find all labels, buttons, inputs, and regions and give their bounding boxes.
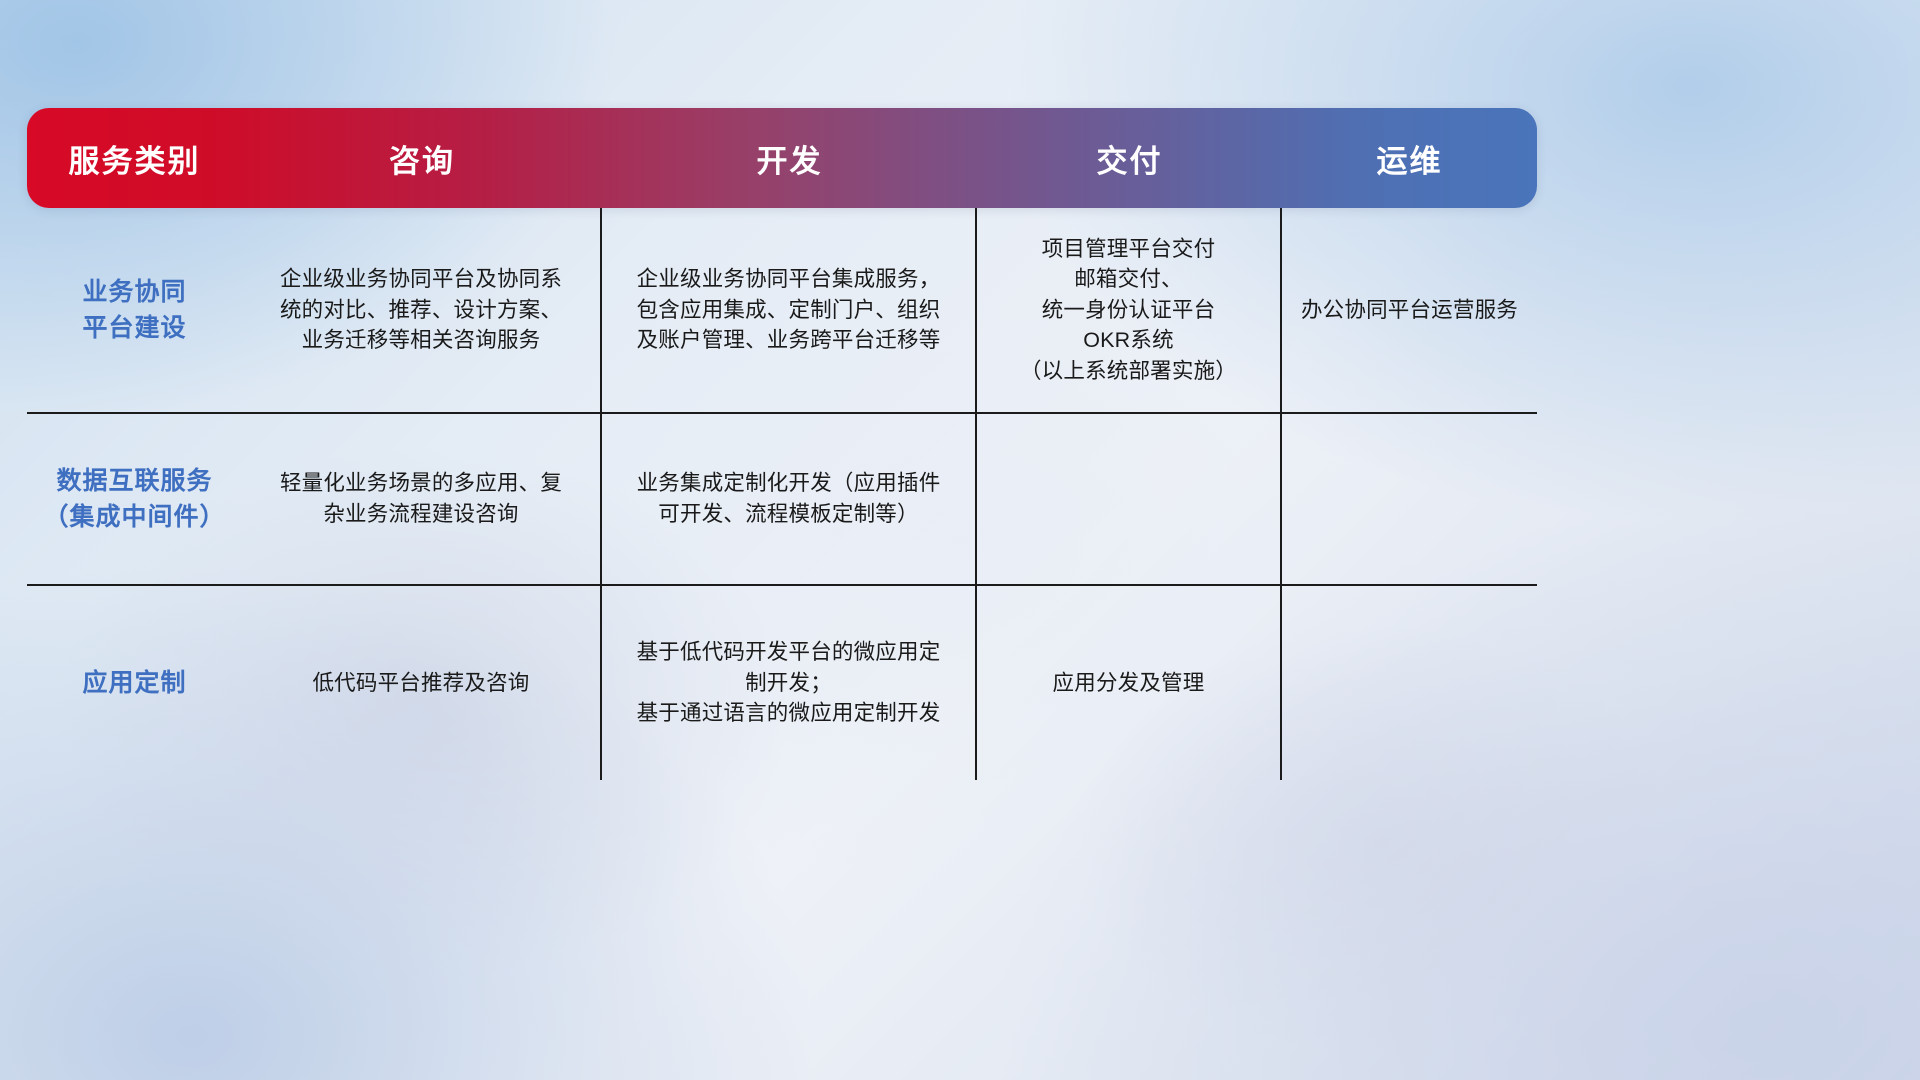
table-row: 应用定制 低代码平台推荐及咨询 基于低代码开发平台的微应用定 制开发； 基于通过…: [27, 586, 1537, 780]
table-body: 业务协同 平台建设 企业级业务协同平台及协同系 统的对比、推荐、设计方案、 业务…: [27, 208, 1537, 780]
cell-row3-development: 基于低代码开发平台的微应用定 制开发； 基于通过语言的微应用定制开发: [602, 586, 977, 780]
cell-row2-consulting: 轻量化业务场景的多应用、复 杂业务流程建设咨询: [242, 414, 602, 584]
column-header-delivery: 交付: [977, 108, 1282, 208]
column-header-consulting: 咨询: [242, 108, 602, 208]
cell-row2-delivery: [977, 414, 1282, 584]
column-header-operations: 运维: [1282, 108, 1537, 208]
cell-row1-consulting: 企业级业务协同平台及协同系 统的对比、推荐、设计方案、 业务迁移等相关咨询服务: [242, 208, 602, 412]
column-header-development: 开发: [602, 108, 977, 208]
row-label-data-interconnect: 数据互联服务 （集成中间件）: [27, 414, 242, 584]
cell-row3-delivery: 应用分发及管理: [977, 586, 1282, 780]
row-label-app-customization: 应用定制: [27, 586, 242, 780]
cell-row2-development: 业务集成定制化开发（应用插件 可开发、流程模板定制等）: [602, 414, 977, 584]
cell-row1-delivery: 项目管理平台交付 邮箱交付、 统一身份认证平台 OKR系统 （以上系统部署实施）: [977, 208, 1282, 412]
cell-row3-consulting: 低代码平台推荐及咨询: [242, 586, 602, 780]
cell-row1-operations: 办公协同平台运营服务: [1282, 208, 1537, 412]
cell-row2-operations: [1282, 414, 1537, 584]
cell-row1-development: 企业级业务协同平台集成服务， 包含应用集成、定制门户、组织 及账户管理、业务跨平…: [602, 208, 977, 412]
column-header-category: 服务类别: [27, 108, 242, 208]
table-row: 业务协同 平台建设 企业级业务协同平台及协同系 统的对比、推荐、设计方案、 业务…: [27, 208, 1537, 414]
cell-row3-operations: [1282, 586, 1537, 780]
table-header-row: 服务类别 咨询 开发 交付 运维: [27, 108, 1537, 208]
service-category-table: 服务类别 咨询 开发 交付 运维 业务协同 平台建设 企业级业务协同平台及协同系…: [27, 108, 1537, 780]
row-label-business-collaboration: 业务协同 平台建设: [27, 208, 242, 412]
table-row: 数据互联服务 （集成中间件） 轻量化业务场景的多应用、复 杂业务流程建设咨询 业…: [27, 414, 1537, 586]
